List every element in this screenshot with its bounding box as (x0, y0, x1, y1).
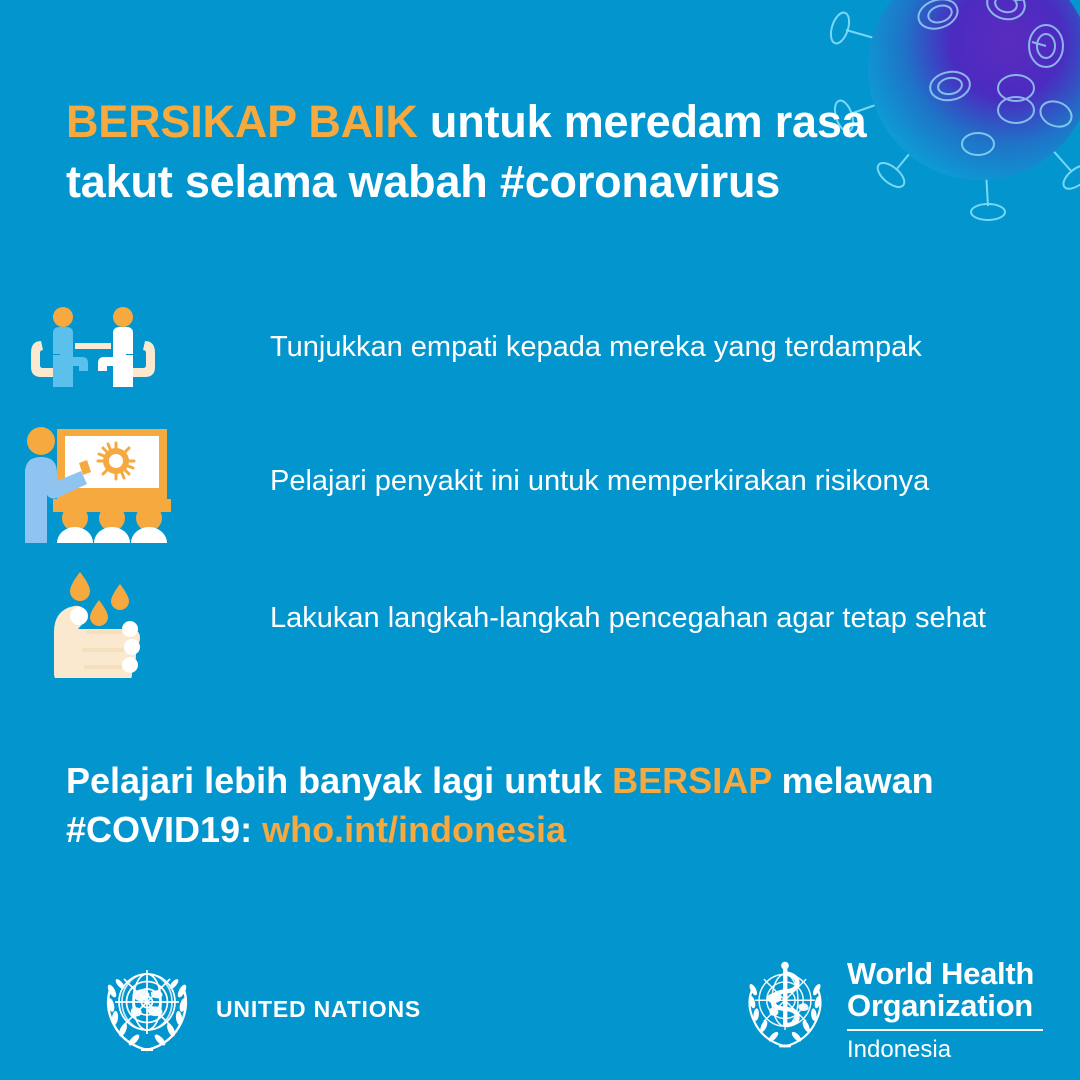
advice-list: Tunjukkan empati kepada mereka yang terd… (0, 283, 1080, 686)
cta-url-link[interactable]: who.int/indonesia (262, 809, 566, 850)
who-name-line2: Organization (847, 990, 1043, 1022)
call-to-action: Pelajari lebih banyak lagi untuk BERSIAP… (66, 757, 1006, 854)
un-emblem-icon (95, 955, 199, 1064)
united-nations-logo: UNITED NATIONS (95, 955, 421, 1064)
list-item: Pelajari penyakit ini untuk memperkiraka… (0, 411, 1080, 551)
headline-accent: BERSIKAP BAIK (66, 96, 418, 147)
un-wordmark: UNITED NATIONS (216, 996, 421, 1023)
cta-accent: BERSIAP (612, 760, 771, 801)
list-item: Tunjukkan empati kepada mereka yang terd… (0, 283, 1080, 411)
teacher-whiteboard-virus-icon (0, 411, 186, 551)
who-country-label: Indonesia (847, 1037, 1043, 1062)
list-item-label: Pelajari penyakit ini untuk memperkiraka… (186, 462, 1080, 501)
who-divider (847, 1029, 1043, 1031)
list-item: Lakukan langkah-langkah pencegahan agar … (0, 551, 1080, 686)
cta-part1: Pelajari lebih banyak lagi untuk (66, 760, 612, 801)
poster-canvas: BERSIKAP BAIK untuk meredam rasa takut s… (0, 0, 1080, 1080)
two-people-at-table-icon (0, 283, 186, 411)
who-emblem-icon (735, 952, 835, 1065)
list-item-label: Tunjukkan empati kepada mereka yang terd… (186, 328, 1080, 367)
who-logo: World Health Organization Indonesia (735, 952, 1043, 1065)
headline: BERSIKAP BAIK untuk meredam rasa takut s… (66, 92, 966, 212)
who-name-line1: World Health (847, 958, 1043, 990)
list-item-label: Lakukan langkah-langkah pencegahan agar … (186, 599, 1080, 638)
handwashing-icon (0, 551, 186, 686)
